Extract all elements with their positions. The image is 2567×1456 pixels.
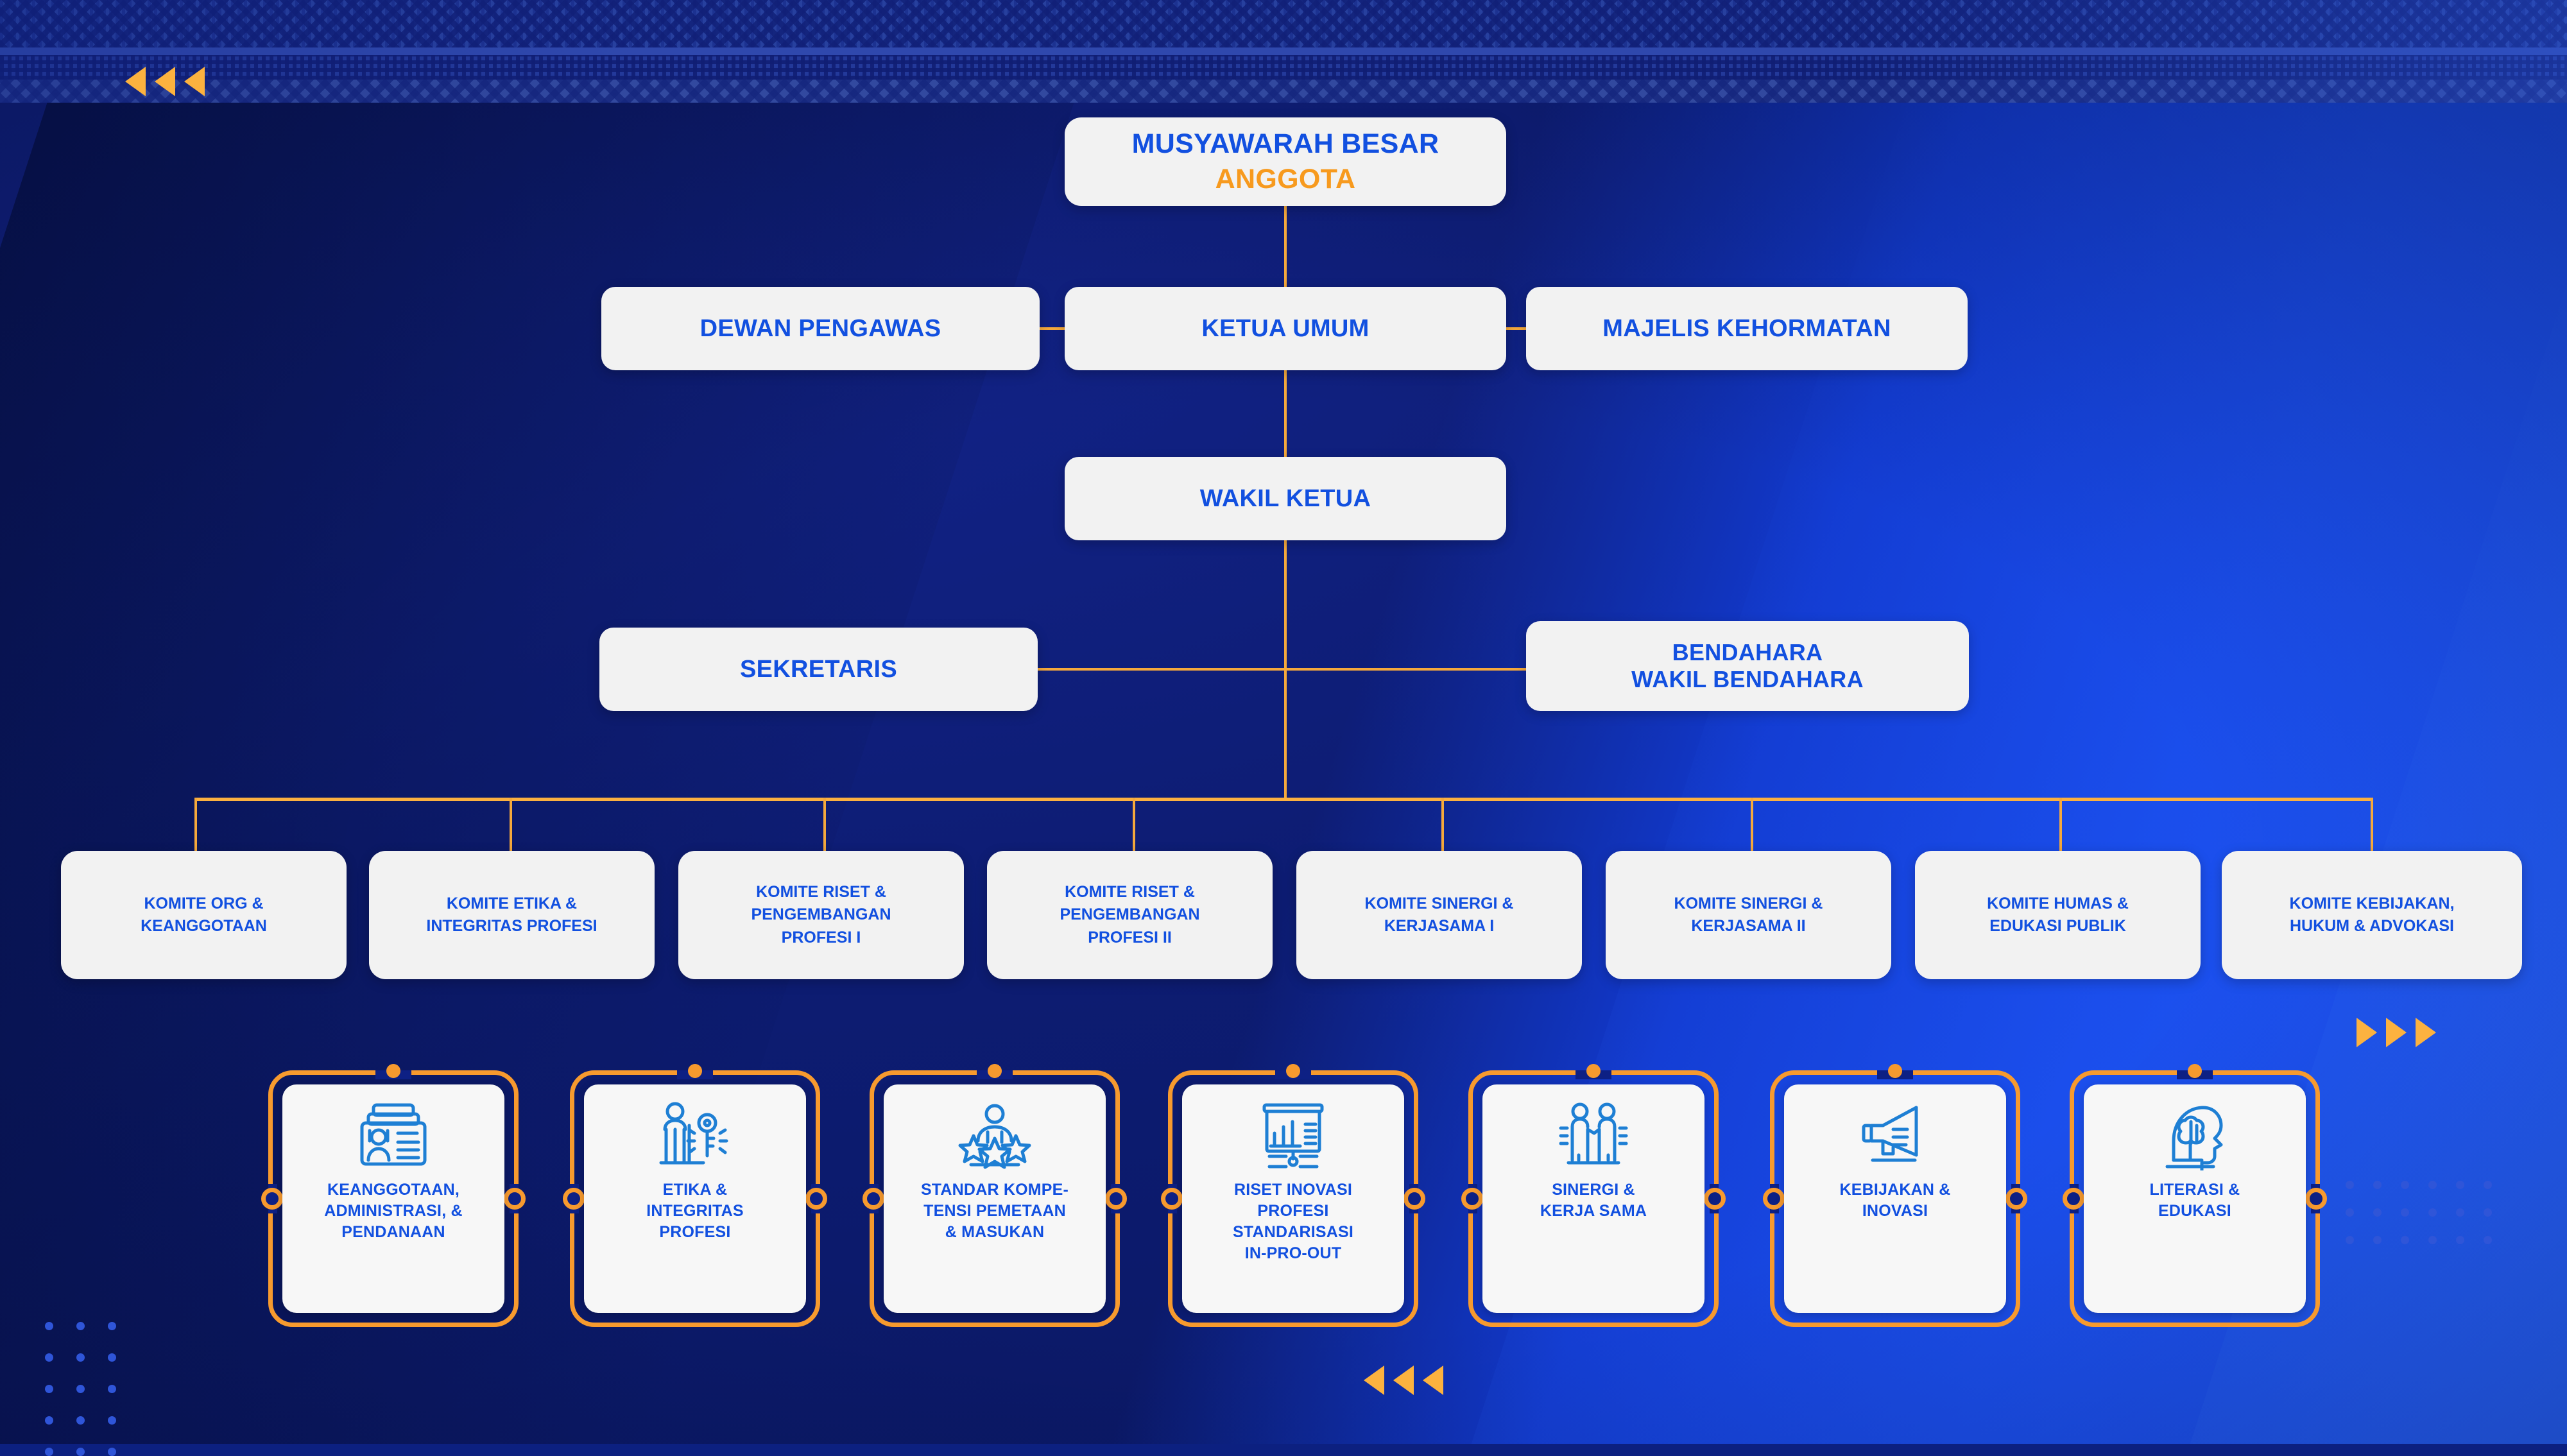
connector-drop-2 xyxy=(510,798,512,851)
committee-label-line: INTEGRITAS PROFESI xyxy=(426,915,597,938)
frame-dot-top-icon xyxy=(688,1064,702,1078)
connector-mubes-to-ketua xyxy=(1284,206,1287,287)
left-arrow-icon xyxy=(1393,1366,1414,1395)
banner-fade-overlay xyxy=(0,0,2567,103)
org-node-musyawarah-besar[interactable]: MUSYAWARAH BESAR ANGGOTA xyxy=(1065,117,1506,206)
focus-card[interactable]: LITERASI & EDUKASI xyxy=(2070,1070,2320,1327)
triple-right-arrow-icon xyxy=(2357,1018,2436,1047)
committee-label-line: KOMITE ETIKA & xyxy=(447,893,577,916)
committee-box[interactable]: KOMITE ORG & KEANGGOTAAN xyxy=(61,851,347,979)
frame-dot-right-icon xyxy=(2005,1188,2027,1210)
person-stars-icon xyxy=(957,1101,1033,1170)
left-arrow-icon xyxy=(1364,1366,1384,1395)
org-node-wakil-ketua[interactable]: WAKIL KETUA xyxy=(1065,457,1506,540)
frame-dot-left-icon xyxy=(563,1188,585,1210)
dot-grid-icon xyxy=(45,1322,116,1456)
focus-card-label-line: LITERASI & xyxy=(2150,1179,2240,1201)
focus-card-label-line: PROFESI xyxy=(1233,1201,1353,1222)
committee-label-line: KOMITE KEBIJAKAN, xyxy=(2290,893,2455,916)
committee-box[interactable]: KOMITE KEBIJAKAN, HUKUM & ADVOKASI xyxy=(2222,851,2522,979)
committee-label-line: PENGEMBANGAN xyxy=(751,904,891,927)
left-arrow-icon xyxy=(184,67,205,96)
frame-dot-left-icon xyxy=(1461,1188,1483,1210)
committee-label-line: KOMITE RISET & xyxy=(756,881,886,904)
connector-spine-to-bendahara xyxy=(1284,668,1526,671)
connector-drop-1 xyxy=(194,798,197,851)
right-arrow-icon xyxy=(2416,1018,2436,1047)
committee-label-line: PROFESI I xyxy=(782,927,861,950)
frame-dot-left-icon xyxy=(1161,1188,1183,1210)
org-node-sekretaris[interactable]: SEKRETARIS xyxy=(599,628,1038,711)
focus-card-label: KEANGGOTAAN, ADMINISTRASI, & PENDANAAN xyxy=(318,1179,469,1243)
committee-label-line: EDUKASI PUBLIK xyxy=(1989,915,2126,938)
committee-label-line: KOMITE RISET & xyxy=(1065,881,1195,904)
committee-label-line: KOMITE SINERGI & xyxy=(1674,893,1823,916)
focus-card[interactable]: ETIKA & INTEGRITAS PROFESI xyxy=(570,1070,820,1327)
focus-card-label-line: TENSI PEMETAAN xyxy=(921,1201,1069,1222)
committee-label-line: PROFESI II xyxy=(1088,927,1172,950)
org-node-ketua-umum[interactable]: KETUA UMUM xyxy=(1065,287,1506,370)
frame-dot-left-icon xyxy=(2063,1188,2084,1210)
triple-left-arrow-icon xyxy=(1364,1366,1443,1395)
connector-ketua-to-wakil xyxy=(1284,370,1287,457)
focus-card-label-line: RISET INOVASI xyxy=(1233,1179,1353,1201)
committee-label-line: KOMITE ORG & xyxy=(144,893,263,916)
songket-pattern-banner xyxy=(0,0,2567,103)
committee-label-line: KOMITE HUMAS & xyxy=(1987,893,2129,916)
focus-card-inner: RISET INOVASI PROFESI STANDARISASI IN-PR… xyxy=(1182,1084,1404,1313)
org-node-label: KETUA UMUM xyxy=(1201,314,1369,343)
right-arrow-icon xyxy=(2357,1018,2377,1047)
handshake-icon xyxy=(1556,1101,1631,1170)
committee-box[interactable]: KOMITE ETIKA & INTEGRITAS PROFESI xyxy=(369,851,655,979)
committee-label-line: KEANGGOTAAN xyxy=(141,915,267,938)
frame-dot-top-icon xyxy=(1286,1064,1300,1078)
org-node-label: DEWAN PENGAWAS xyxy=(700,314,941,343)
focus-card-label-line: INTEGRITAS xyxy=(646,1201,744,1222)
focus-card-label: SINERGI & KERJA SAMA xyxy=(1534,1179,1653,1222)
frame-dot-top-icon xyxy=(386,1064,400,1078)
connector-committee-bus xyxy=(194,798,2373,801)
focus-card-label-line: PENDANAAN xyxy=(324,1222,463,1243)
org-node-label: MAJELIS KEHORMATAN xyxy=(1602,314,1891,343)
focus-card-inner: KEBIJAKAN & INOVASI xyxy=(1784,1084,2006,1313)
connector-ketua-to-majelis xyxy=(1506,327,1527,330)
triple-left-arrow-icon xyxy=(125,67,205,96)
org-node-majelis-kehormatan[interactable]: MAJELIS KEHORMATAN xyxy=(1526,287,1968,370)
focus-card-label-line: IN-PRO-OUT xyxy=(1233,1243,1353,1264)
frame-dot-left-icon xyxy=(261,1188,283,1210)
person-key-icon xyxy=(657,1101,733,1170)
frame-dot-right-icon xyxy=(1105,1188,1127,1210)
committee-box[interactable]: KOMITE SINERGI & KERJASAMA I xyxy=(1296,851,1582,979)
org-node-label: SEKRETARIS xyxy=(740,655,897,684)
org-node-label-line2: ANGGOTA xyxy=(1215,163,1356,196)
focus-card-label-line: ADMINISTRASI, & xyxy=(324,1201,463,1222)
committee-box[interactable]: KOMITE RISET & PENGEMBANGAN PROFESI I xyxy=(678,851,964,979)
right-arrow-icon xyxy=(2386,1018,2407,1047)
frame-dot-right-icon xyxy=(1704,1188,1726,1210)
connector-drop-6 xyxy=(1751,798,1753,851)
committee-box[interactable]: KOMITE SINERGI & KERJASAMA II xyxy=(1606,851,1891,979)
committee-label-line: PENGEMBANGAN xyxy=(1060,904,1199,927)
connector-drop-7 xyxy=(2059,798,2062,851)
focus-card-label: ETIKA & INTEGRITAS PROFESI xyxy=(640,1179,750,1243)
connector-drop-5 xyxy=(1441,798,1444,851)
org-node-label-line1: MUSYAWARAH BESAR xyxy=(1132,128,1439,160)
org-node-bendahara[interactable]: BENDAHARA WAKIL BENDAHARA xyxy=(1526,621,1969,711)
left-arrow-icon xyxy=(1423,1366,1443,1395)
focus-card-label: RISET INOVASI PROFESI STANDARISASI IN-PR… xyxy=(1226,1179,1360,1264)
focus-card[interactable]: RISET INOVASI PROFESI STANDARISASI IN-PR… xyxy=(1168,1070,1418,1327)
focus-card-inner: KEANGGOTAAN, ADMINISTRASI, & PENDANAAN xyxy=(282,1084,504,1313)
focus-card-label: KEBIJAKAN & INOVASI xyxy=(1833,1179,1957,1222)
org-node-dewan-pengawas[interactable]: DEWAN PENGAWAS xyxy=(601,287,1040,370)
left-arrow-icon xyxy=(125,67,146,96)
connector-drop-3 xyxy=(823,798,826,851)
focus-card-inner: LITERASI & EDUKASI xyxy=(2084,1084,2306,1313)
frame-dot-top-icon xyxy=(988,1064,1002,1078)
head-brain-icon xyxy=(2157,1101,2233,1170)
frame-dot-left-icon xyxy=(1763,1188,1785,1210)
focus-card-label-line: PROFESI xyxy=(646,1222,744,1243)
committee-label-line: KOMITE SINERGI & xyxy=(1365,893,1514,916)
focus-card[interactable]: KEANGGOTAAN, ADMINISTRASI, & PENDANAAN xyxy=(268,1070,519,1327)
committee-box[interactable]: KOMITE RISET & PENGEMBANGAN PROFESI II xyxy=(987,851,1273,979)
committee-label-line: HUKUM & ADVOKASI xyxy=(2290,915,2454,938)
frame-dot-top-icon xyxy=(1888,1064,1902,1078)
focus-card[interactable]: STANDAR KOMPE- TENSI PEMETAAN & MASUKAN xyxy=(870,1070,1120,1327)
focus-card-label-line: SINERGI & xyxy=(1540,1179,1647,1201)
connector-ketua-to-pengawas xyxy=(1040,327,1066,330)
focus-card-label-line: KEANGGOTAAN, xyxy=(324,1179,463,1201)
focus-card-label: STANDAR KOMPE- TENSI PEMETAAN & MASUKAN xyxy=(914,1179,1075,1243)
frame-dot-right-icon xyxy=(1404,1188,1425,1210)
focus-card-inner: ETIKA & INTEGRITAS PROFESI xyxy=(584,1084,806,1313)
focus-card-label-line: STANDARISASI xyxy=(1233,1222,1353,1243)
focus-card-label-line: STANDAR KOMPE- xyxy=(921,1179,1069,1201)
megaphone-icon xyxy=(1857,1101,1933,1170)
frame-dot-right-icon xyxy=(504,1188,526,1210)
frame-dot-right-icon xyxy=(2305,1188,2327,1210)
org-node-label-line2: WAKIL BENDAHARA xyxy=(1631,666,1864,693)
focus-card-label-line: INOVASI xyxy=(1839,1201,1950,1222)
committee-label-line: KERJASAMA I xyxy=(1384,915,1494,938)
frame-dot-top-icon xyxy=(1586,1064,1601,1078)
connector-drop-4 xyxy=(1133,798,1135,851)
focus-card-label-line: ETIKA & xyxy=(646,1179,744,1201)
org-node-label-line1: BENDAHARA xyxy=(1672,639,1823,666)
connector-spine-to-sekretaris xyxy=(1038,668,1284,671)
committee-box[interactable]: KOMITE HUMAS & EDUKASI PUBLIK xyxy=(1915,851,2201,979)
focus-card-inner: SINERGI & KERJA SAMA xyxy=(1482,1084,1704,1313)
focus-card-label: LITERASI & EDUKASI xyxy=(2143,1179,2247,1222)
focus-card[interactable]: SINERGI & KERJA SAMA xyxy=(1468,1070,1719,1327)
frame-dot-left-icon xyxy=(863,1188,884,1210)
focus-card-label-line: KEBIJAKAN & xyxy=(1839,1179,1950,1201)
presentation-chart-icon xyxy=(1255,1101,1331,1170)
focus-card-inner: STANDAR KOMPE- TENSI PEMETAAN & MASUKAN xyxy=(884,1084,1106,1313)
frame-dot-right-icon xyxy=(805,1188,827,1210)
connector-drop-8 xyxy=(2371,798,2373,851)
focus-card-label-line: & MASUKAN xyxy=(921,1222,1069,1243)
org-node-label: WAKIL KETUA xyxy=(1200,484,1371,513)
dot-grid-icon xyxy=(2346,1181,2492,1244)
left-arrow-icon xyxy=(155,67,175,96)
id-card-icon xyxy=(356,1101,431,1170)
focus-card[interactable]: KEBIJAKAN & INOVASI xyxy=(1770,1070,2020,1327)
frame-dot-top-icon xyxy=(2188,1064,2202,1078)
focus-card-label-line: KERJA SAMA xyxy=(1540,1201,1647,1222)
focus-card-label-line: EDUKASI xyxy=(2150,1201,2240,1222)
committee-label-line: KERJASAMA II xyxy=(1691,915,1805,938)
